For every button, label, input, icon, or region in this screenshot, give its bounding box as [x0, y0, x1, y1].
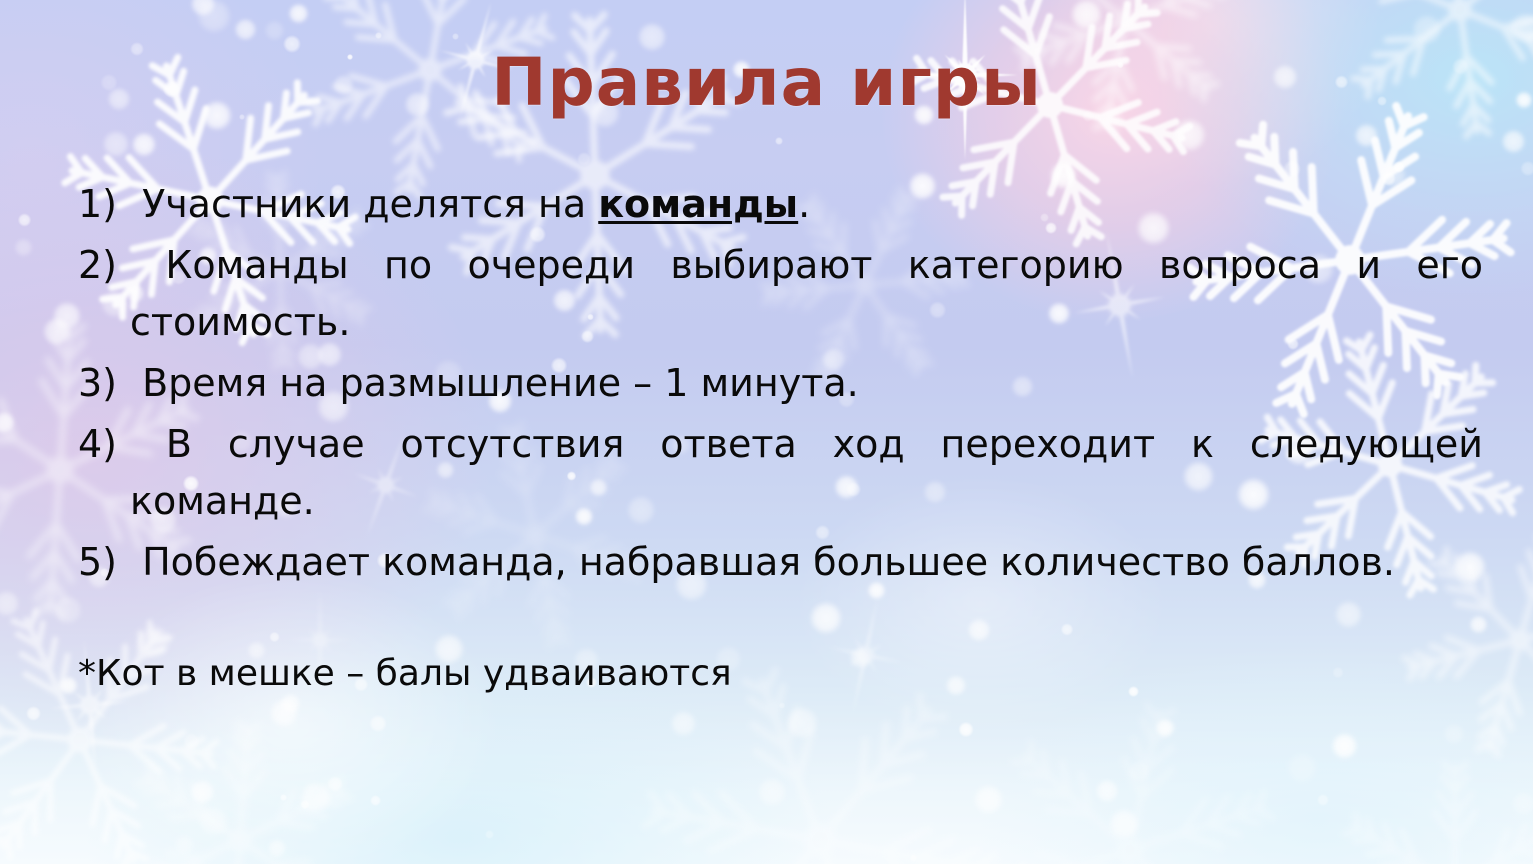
rule-marker: 2) [78, 237, 130, 294]
rule-item-2: 2) Команды по очереди выбирают категорию… [78, 237, 1483, 351]
rule-text-before: В случае отсутствия ответа ход переходит… [130, 422, 1483, 523]
rule-text-before: Команды по очереди выбирают категорию во… [130, 243, 1483, 344]
rule-item-5: 5) Побеждает команда, набравшая большее … [78, 534, 1483, 591]
rule-emphasis: команды [598, 182, 798, 226]
slide-canvas: Правила игры 1) Участники делятся на ком… [0, 0, 1533, 864]
rules-list: 1) Участники делятся на команды. 2) Кома… [78, 176, 1483, 705]
rule-item-1: 1) Участники делятся на команды. [78, 176, 1483, 233]
rule-text-after: . [798, 182, 810, 226]
rule-marker: 5) [78, 534, 130, 591]
rule-marker: 4) [78, 416, 130, 473]
footnote-text: *Кот в мешке – балы удваиваются [78, 647, 1483, 701]
slide-content: Правила игры 1) Участники делятся на ком… [0, 0, 1533, 864]
rule-item-3: 3) Время на размышление – 1 минута. [78, 355, 1483, 412]
rule-text-before: Участники делятся на [130, 182, 598, 226]
rule-text-before: Побеждает команда, набравшая большее кол… [130, 540, 1395, 584]
page-title: Правила игры [0, 48, 1533, 117]
rule-marker: 1) [78, 176, 130, 233]
rule-text-before: Время на размышление – 1 минута. [130, 361, 859, 405]
rule-item-4: 4) В случае отсутствия ответа ход перехо… [78, 416, 1483, 530]
rule-marker: 3) [78, 355, 130, 412]
